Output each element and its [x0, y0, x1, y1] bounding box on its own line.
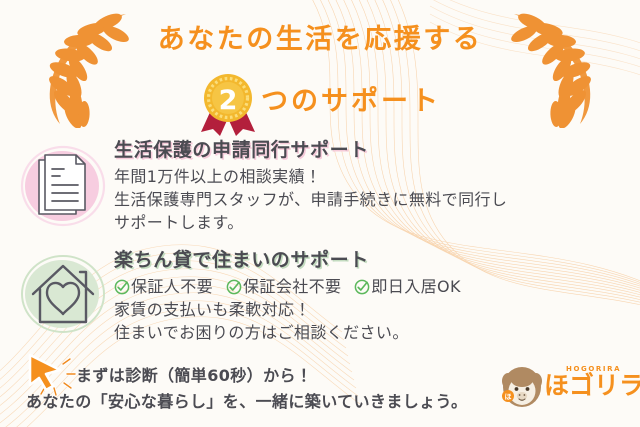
hogorira-logo[interactable]: ほ HOGORIRA ほゴリラ: [500, 360, 628, 412]
documents-stack-icon: [16, 136, 112, 236]
support-banner: あなたの生活を応援する 2 つのサポート: [0, 0, 640, 427]
feature-check-label: 即日入居OK: [371, 275, 461, 298]
circle-check-icon: [354, 279, 370, 295]
logo-wordmark: HOGORIRA ほゴリラ: [544, 363, 626, 409]
support-item-body: 生活保護の申請同行サポート 年間1万件以上の相談実績！ 生活保護専門スタッフが、…: [112, 136, 640, 234]
support-text-line: 家賃の支払いも柔軟対応！: [114, 298, 640, 321]
banner-title-line-2-row: 2 つのサポート: [0, 72, 640, 136]
house-heart-icon: [16, 246, 112, 346]
banner-header: あなたの生活を応援する 2 つのサポート: [0, 0, 640, 130]
support-text-line: 住まいでお困りの方はご相談ください。: [114, 321, 640, 344]
support-item-body: 楽ちん貸で住まいのサポート 保証人不要 保証会社不要: [112, 246, 640, 344]
support-item-housing: 楽ちん貸で住まいのサポート 保証人不要 保証会社不要: [0, 246, 640, 346]
feature-check-item: 保証会社不要: [226, 275, 341, 298]
feature-check-item: 即日入居OK: [354, 275, 461, 298]
support-feature-checklist: 保証人不要 保証会社不要 即日入居OK: [114, 275, 640, 298]
support-text-line: 生活保護専門スタッフが、申請手続きに無料で同行し: [114, 188, 640, 211]
banner-footer: まずは診断（簡単60秒）から！ あなたの「安心な暮らし」を、一緒に築いていきまし…: [0, 352, 640, 427]
feature-check-label: 保証人不要: [131, 275, 213, 298]
banner-title-line-1: あなたの生活を応援する: [0, 24, 640, 56]
medal-number-text: 2: [219, 85, 238, 116]
banner-title-line-2: つのサポート: [261, 85, 441, 119]
support-text-line: 年間1万件以上の相談実績！: [114, 165, 640, 188]
feature-check-label: 保証会社不要: [243, 275, 341, 298]
support-heading: 楽ちん貸で住まいのサポート: [114, 248, 640, 272]
circle-check-icon: [114, 279, 130, 295]
footer-cta-line-1: まずは診断（簡単60秒）から！: [76, 364, 312, 387]
support-text-line: サポートします。: [114, 211, 640, 234]
feature-check-item: 保証人不要: [114, 275, 213, 298]
gorilla-mascot-icon: ほ: [500, 363, 544, 409]
footer-cta-line-2: あなたの「安心な暮らし」を、一緒に築いていきましょう。: [26, 390, 467, 413]
svg-text:ほ: ほ: [505, 393, 512, 401]
support-item-welfare-application: 生活保護の申請同行サポート 年間1万件以上の相談実績！ 生活保護専門スタッフが、…: [0, 136, 640, 236]
support-heading: 生活保護の申請同行サポート: [114, 138, 640, 162]
circle-check-icon: [226, 279, 242, 295]
award-medal-icon: 2: [199, 72, 257, 136]
logo-kana-text: ほゴリラ: [544, 371, 640, 401]
